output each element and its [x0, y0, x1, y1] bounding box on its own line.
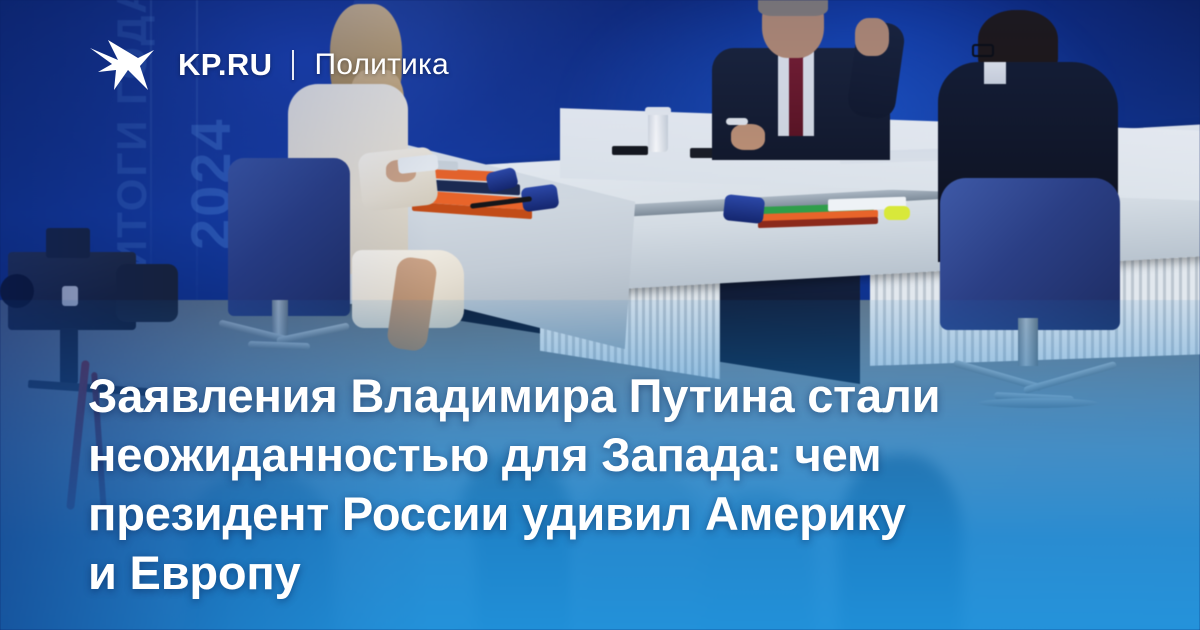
headline-line-3: президент России удивил Америку	[88, 484, 1068, 543]
headline-line-1: Заявления Владимира Путина стали	[88, 366, 1068, 425]
rubric-label[interactable]: Политика	[314, 48, 448, 82]
site-header: KP.RU Политика	[88, 36, 449, 94]
headline: Заявления Владимира Путина стали неожида…	[88, 366, 1068, 602]
kp-swallow-bird-logo-icon[interactable]	[88, 38, 156, 92]
headline-line-4: и Европу	[88, 543, 1068, 602]
brand-label[interactable]: KP.RU	[178, 47, 272, 83]
header-divider	[292, 50, 294, 80]
social-share-card: ИТОГИ ГОДА 2024	[0, 0, 1200, 630]
headline-line-2: неожиданностью для Запада: чем	[88, 425, 1068, 484]
